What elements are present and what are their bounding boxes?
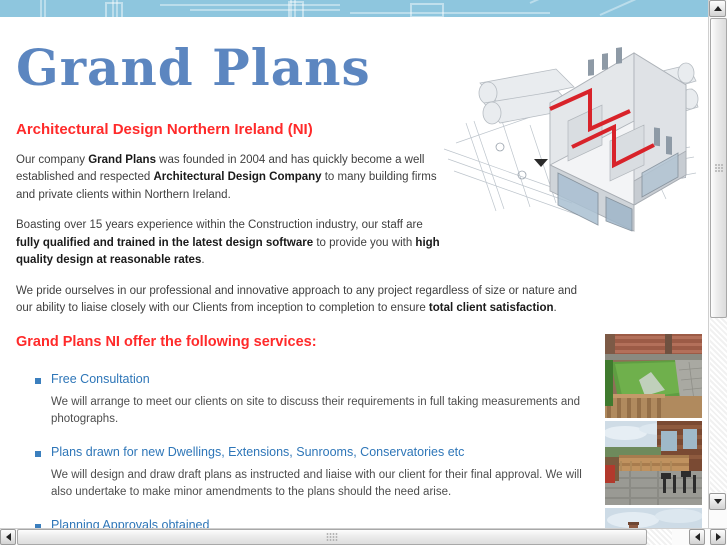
chevron-left-icon [695,533,700,541]
photo-garden-patio[interactable] [605,334,702,418]
service-item: Planning Approvals obtained [16,518,591,528]
chevron-down-icon [714,499,722,504]
architectural-render-image [438,25,700,253]
intro-text-column: Architectural Design Northern Ireland (N… [16,121,446,331]
grip-dots-icon [326,533,338,542]
service-link[interactable]: Planning Approvals obtained [51,518,591,528]
service-link[interactable]: Plans drawn for new Dwellings, Extension… [51,445,591,461]
chevron-up-icon [714,6,722,11]
page-title: Architectural Design Northern Ireland (N… [16,121,446,139]
square-bullet-icon [35,378,41,384]
vertical-scrollbar-track[interactable] [710,18,727,492]
photo-strip [605,334,702,528]
scroll-left-button[interactable] [0,529,16,545]
chevron-left-icon [6,533,11,541]
service-link[interactable]: Free Consultation [51,372,591,388]
page-content: Grand Plans [0,17,708,528]
scroll-down-button[interactable] [709,493,726,510]
scroll-left-button-secondary[interactable] [689,529,705,545]
services-list: Free ConsultationWe will arrange to meet… [16,372,591,528]
blueprint-banner [0,0,708,17]
chevron-right-icon [716,533,721,541]
service-description: We will design and draw draft plans as i… [51,467,591,502]
vertical-scrollbar[interactable] [708,0,727,528]
intro-paragraphs: Our company Grand Plans was founded in 2… [16,152,446,318]
grip-dots-icon [714,164,723,173]
horizontal-scrollbar[interactable] [0,528,727,545]
horizontal-scrollbar-track[interactable] [17,529,672,545]
square-bullet-icon [35,451,41,457]
services-title: Grand Plans NI offer the following servi… [16,334,591,350]
page-viewport: Grand Plans [0,0,708,528]
service-item: Free ConsultationWe will arrange to meet… [16,372,591,428]
intro-paragraph: Boasting over 15 years experience within… [16,217,446,269]
service-item: Plans drawn for new Dwellings, Extension… [16,445,591,501]
photo-decking-balcony[interactable] [605,421,702,505]
site-logo: Grand Plans [16,43,371,93]
intro-paragraph: We pride ourselves in our professional a… [16,283,591,318]
intro-paragraph: Our company Grand Plans was founded in 2… [16,152,446,204]
service-description: We will arrange to meet our clients on s… [51,394,591,429]
vertical-scrollbar-thumb[interactable] [710,18,727,318]
scroll-right-button[interactable] [710,529,726,545]
photo-house-roof[interactable] [605,508,702,528]
services-section: Grand Plans NI offer the following servi… [16,334,591,528]
scroll-up-button[interactable] [709,0,726,17]
horizontal-scrollbar-thumb[interactable] [17,529,647,545]
